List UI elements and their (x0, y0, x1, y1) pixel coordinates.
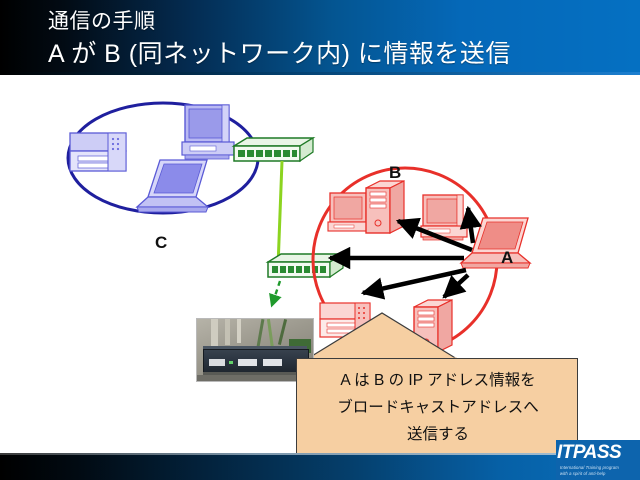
left-printer (70, 133, 126, 171)
callout-line-3: 送信する (297, 421, 579, 448)
host-b-tower-server (366, 181, 404, 233)
photo-faceplate (263, 359, 282, 366)
callout-line-1: A は B の IP アドレス情報を (297, 367, 579, 394)
label-host-b: B (389, 163, 401, 183)
label-network-c: C (155, 233, 167, 253)
arrow-a-to-upper-right (468, 208, 473, 243)
inter-switch-green-link (278, 161, 282, 267)
label-host-a: A (501, 248, 513, 268)
photo-pipe (211, 319, 218, 349)
callout-text: A は B の IP アドレス情報を ブロードキャストアドレスへ 送信する (297, 367, 579, 448)
arrow-a-to-tower (444, 275, 468, 297)
right-desktop-upper-left (328, 193, 370, 231)
upper-ethernet-switch (234, 138, 313, 161)
slide-root: 通信の手順 A が B (同ネットワーク内) に情報を送信 (0, 0, 640, 480)
switch-to-photo-arrow (272, 281, 280, 305)
itpass-logo: ITPASS International Training program wi… (556, 440, 640, 480)
left-laptop (137, 160, 208, 212)
itpass-tagline-line-1: International Training program (560, 465, 640, 470)
callout-line-2: ブロードキャストアドレスへ (297, 394, 579, 421)
itpass-tagline-line-2: with a spirit of anti-help (560, 471, 640, 476)
photo-pipe (237, 319, 241, 343)
page-title-line-1: 通信の手順 (48, 5, 156, 35)
page-title-line-2: A が B (同ネットワーク内) に情報を送信 (48, 34, 511, 70)
itpass-wordmark: ITPASS (557, 442, 640, 464)
slide-footer-band (0, 455, 640, 480)
photo-pipe (225, 319, 230, 345)
photo-faceplate (238, 359, 257, 366)
explanation-callout: A は B の IP アドレス情報を ブロードキャストアドレスへ 送信する (296, 358, 578, 458)
photo-faceplate (209, 359, 225, 366)
photo-status-led (229, 361, 233, 364)
left-desktop-computer (182, 105, 234, 159)
